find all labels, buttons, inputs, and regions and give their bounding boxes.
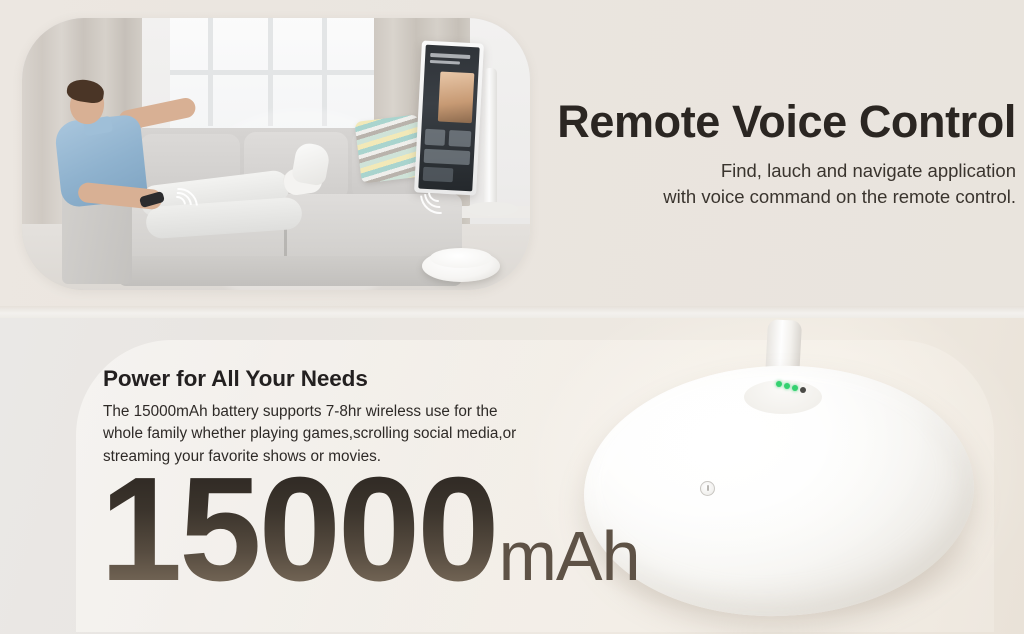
- tv-ui-tile: [425, 129, 446, 146]
- top-panel: Remote Voice Control Find, lauch and nav…: [0, 0, 1024, 308]
- led-indicator-1: [776, 381, 782, 387]
- top-heading: Remote Voice Control: [556, 98, 1016, 146]
- bottom-heading: Power for All Your Needs: [103, 366, 533, 392]
- tv-content-thumbnail: [438, 71, 475, 123]
- window-mullion: [170, 70, 380, 75]
- tv-ui-bar: [430, 60, 460, 65]
- top-subtext-line-2: with voice command on the remote control…: [556, 184, 1016, 210]
- bottom-panel: Power for All Your Needs The 15000mAh ba…: [0, 318, 1024, 634]
- led-indicator-3: [792, 385, 798, 391]
- marketing-banner: Remote Voice Control Find, lauch and nav…: [0, 0, 1024, 634]
- tv-ui-tile: [424, 149, 471, 165]
- sofa-base: [118, 256, 462, 286]
- capacity-unit: mAh: [499, 527, 640, 586]
- power-button-icon: [700, 481, 715, 496]
- tv-ui-tile: [449, 130, 472, 147]
- tv-pole-collar: [466, 202, 518, 216]
- tv-ui-bar: [430, 53, 470, 59]
- led-indicator-2: [784, 383, 790, 389]
- capacity-value: 15000: [100, 468, 497, 592]
- top-panel-copy: Remote Voice Control Find, lauch and nav…: [556, 98, 1016, 210]
- lifestyle-photo: [22, 18, 530, 290]
- top-subtext: Find, lauch and navigate application wit…: [556, 158, 1016, 211]
- bottom-body-line-1: The 15000mAh battery supports 7-8hr wire…: [103, 401, 533, 423]
- bottom-body-line-2: whole family whether playing games,scrol…: [103, 423, 533, 445]
- device-pole-joint: [744, 380, 822, 414]
- tv-pole: [484, 68, 497, 216]
- capacity-display: 15000 mAh: [100, 468, 640, 592]
- tv-round-base-top: [430, 248, 492, 268]
- top-subtext-line-1: Find, lauch and navigate application: [556, 158, 1016, 184]
- led-indicator-4: [800, 387, 806, 393]
- tv-screen: [418, 45, 479, 192]
